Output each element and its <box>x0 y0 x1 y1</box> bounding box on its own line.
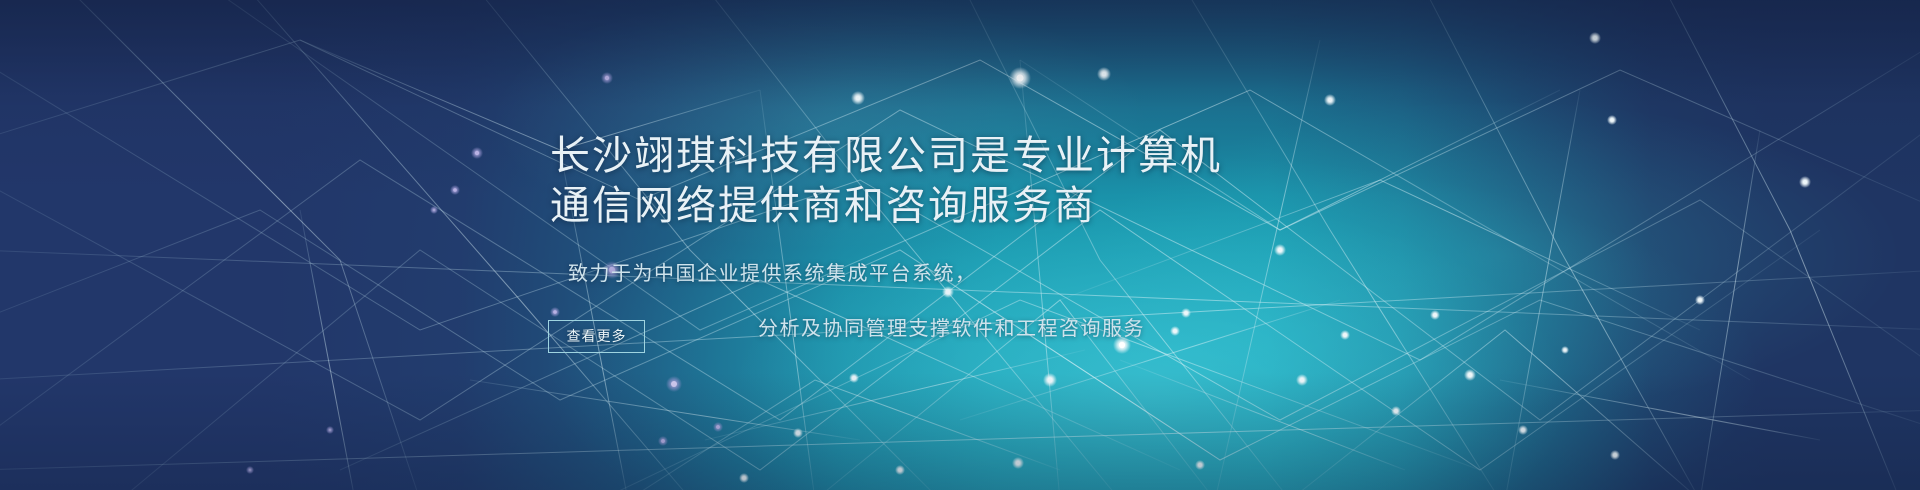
background-vignette <box>0 0 1920 490</box>
hero-banner: 长沙翊琪科技有限公司是专业计算机 通信网络提供商和咨询服务商 致力于为中国企业提… <box>0 0 1920 490</box>
view-more-button[interactable]: 查看更多 <box>548 320 645 353</box>
hero-subtitle-line-1: 致力于为中国企业提供系统集成平台系统， <box>568 260 977 288</box>
hero-headline-line-1: 长沙翊琪科技有限公司是专业计算机 <box>550 131 1450 181</box>
hero-headline: 长沙翊琪科技有限公司是专业计算机 通信网络提供商和咨询服务商 <box>550 131 1450 231</box>
hero-subtitle-line-2: 分析及协同管理支撑软件和工程咨询服务 <box>758 315 1145 343</box>
hero-headline-line-2: 通信网络提供商和咨询服务商 <box>550 181 1450 231</box>
